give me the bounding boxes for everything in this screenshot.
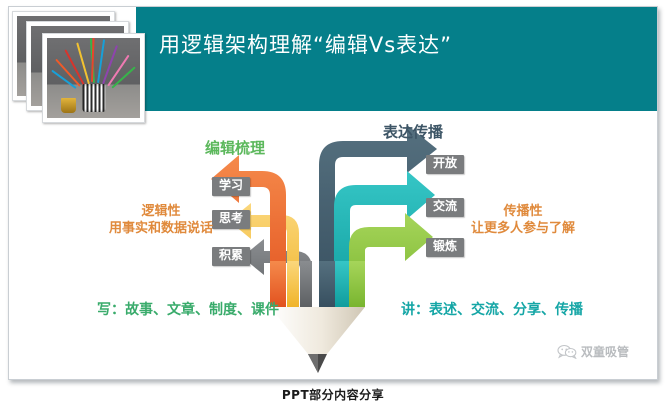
chip-exchange[interactable]: 交流 (426, 198, 464, 217)
pencil-tip (270, 307, 365, 373)
watermark: 双童吸管 (557, 343, 629, 360)
sentence-write: 写：故事、文章、制度、课件 (97, 299, 279, 319)
thumbnail-photo-front (42, 33, 145, 123)
blurb-spread-line1: 传播性 (471, 203, 575, 220)
wechat-bubbles-icon (557, 344, 577, 359)
watermark-label: 双童吸管 (581, 343, 629, 360)
blurb-logic-line1: 逻辑性 (109, 203, 213, 220)
sentence-speak: 讲：表述、交流、分享、传播 (401, 299, 583, 319)
chip-train[interactable]: 锻炼 (426, 238, 464, 257)
blurb-spread: 传播性 让更多人参与了解 (471, 203, 575, 237)
heading-expression: 表达传播 (383, 121, 443, 142)
blurb-spread-line2: 让更多人参与了解 (471, 220, 575, 237)
header-band (136, 7, 657, 111)
blurb-logic: 逻辑性 用事实和数据说话 (109, 203, 213, 237)
page-title: 用逻辑架构理解“编辑Vs表达” (159, 29, 452, 59)
chip-learn[interactable]: 学习 (212, 177, 250, 196)
chip-think[interactable]: 思考 (212, 210, 250, 229)
pencil-barrel (270, 261, 365, 307)
blurb-logic-line2: 用事实和数据说话 (109, 220, 213, 237)
photo-image (47, 38, 140, 118)
chip-open[interactable]: 开放 (426, 155, 464, 174)
caption: PPT部分内容分享 (0, 386, 666, 403)
heading-editing: 编辑梳理 (205, 137, 265, 158)
pencil-arrow-diagram (9, 111, 657, 379)
slide-frame: 用逻辑架构理解“编辑Vs表达” (8, 6, 658, 380)
chip-accumulate[interactable]: 积累 (212, 247, 250, 266)
